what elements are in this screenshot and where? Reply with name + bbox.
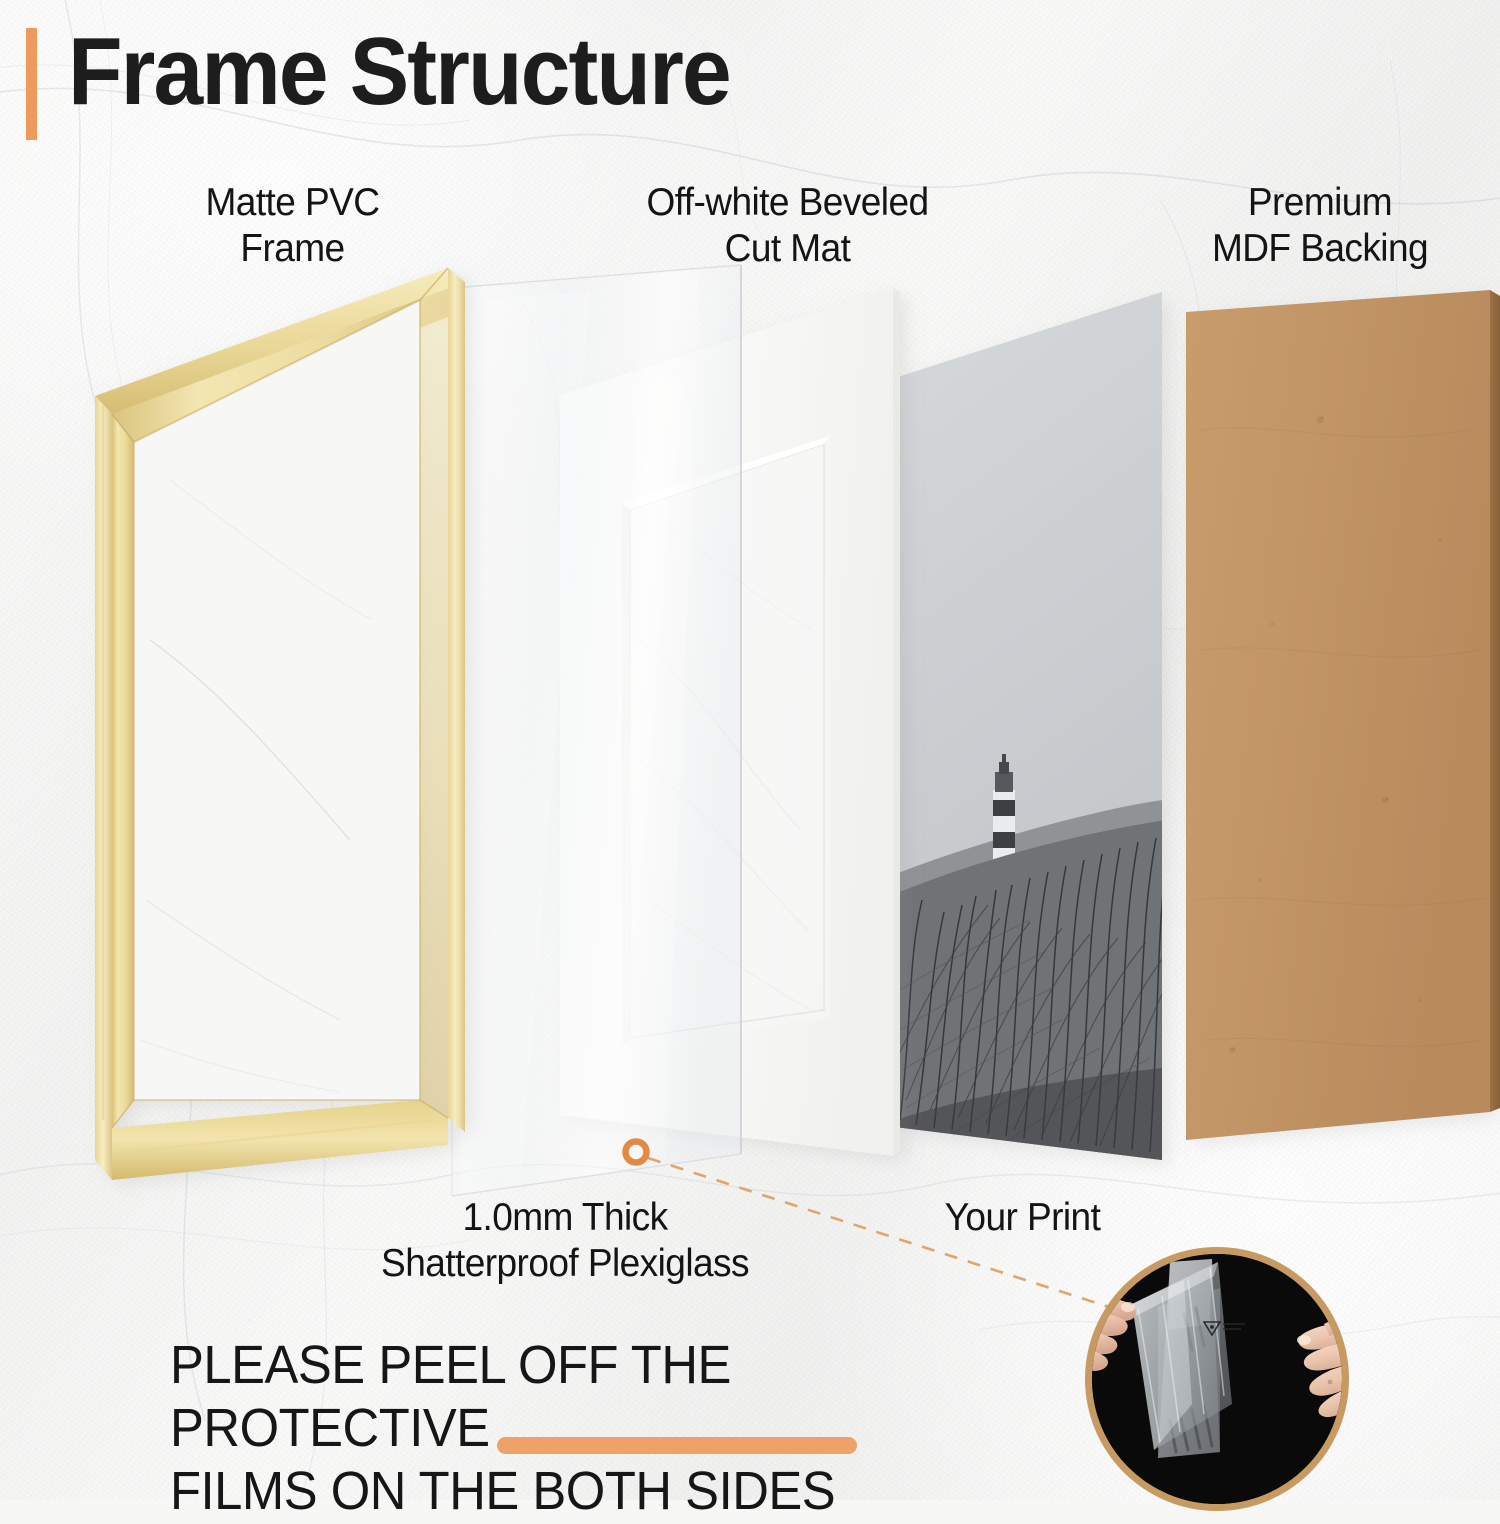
peel-off-notice: PLEASE PEEL OFF THE PROTECTIVE FILMS ON …: [170, 1334, 1016, 1524]
mdf-backing-layer: [1186, 290, 1500, 1140]
peel-film-illustration: [1092, 1254, 1342, 1504]
label-matte-pvc-frame: Matte PVC Frame: [129, 180, 457, 272]
protective-film-photo: [1092, 1254, 1342, 1504]
print-layer: [880, 280, 1180, 1180]
matte-pvc-frame-layer: [95, 268, 465, 1180]
label-off-white-beveled-cut-mat: Off-white Beveled Cut Mat: [571, 180, 1003, 272]
plexiglass-layer: [452, 265, 741, 1196]
label-your-print: Your Print: [854, 1195, 1191, 1241]
label-shatterproof-plexiglass: 1.0mm Thick Shatterproof Plexiglass: [271, 1195, 860, 1287]
label-premium-mdf-backing: Premium MDF Backing: [1140, 180, 1500, 272]
